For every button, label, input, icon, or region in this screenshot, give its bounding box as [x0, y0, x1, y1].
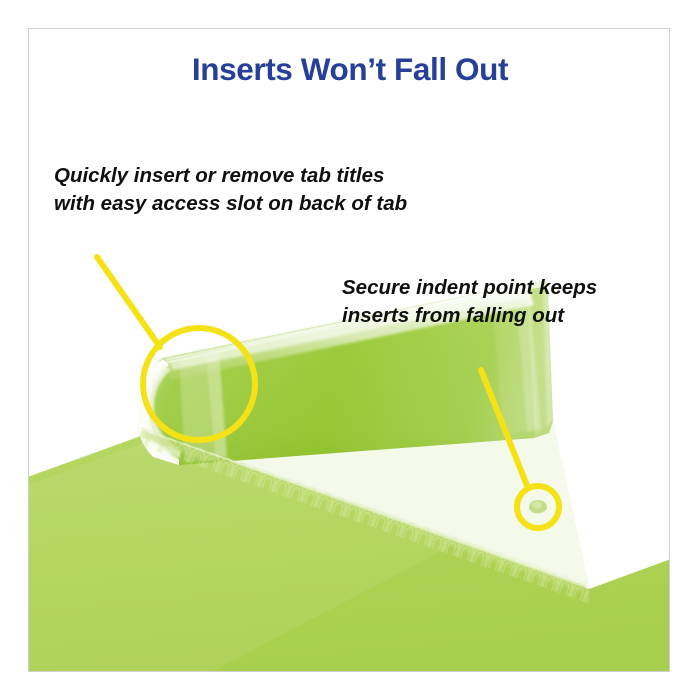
- page-title: Inserts Won’t Fall Out: [29, 51, 670, 88]
- callout-line-1: Secure indent point keeps: [342, 274, 597, 302]
- callout-text-access-slot: Quickly insert or remove tab titles with…: [54, 162, 407, 218]
- product-photo-svg: [29, 29, 670, 672]
- image-frame: Inserts Won’t Fall Out Quickly insert or…: [28, 28, 670, 672]
- product-photo: [29, 29, 670, 672]
- callout-line-1: Quickly insert or remove tab titles: [54, 162, 407, 190]
- secure-indent-point: [529, 500, 547, 514]
- product-feature-graphic: Inserts Won’t Fall Out Quickly insert or…: [0, 0, 700, 700]
- callout-line-2: inserts from falling out: [342, 302, 597, 330]
- callout-text-indent-point: Secure indent point keeps inserts from f…: [342, 274, 597, 330]
- callout-line-2: with easy access slot on back of tab: [54, 190, 407, 218]
